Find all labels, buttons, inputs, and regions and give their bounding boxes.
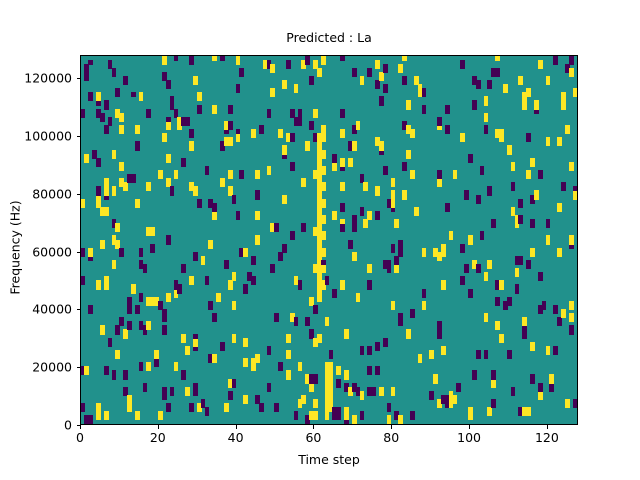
y-tick-mark — [77, 136, 81, 137]
x-tick-label: 80 — [361, 430, 421, 445]
x-tick-mark — [391, 425, 392, 429]
x-tick-mark — [469, 425, 470, 429]
x-tick-label: 40 — [206, 430, 266, 445]
y-tick-mark — [77, 425, 81, 426]
x-tick-mark — [547, 425, 548, 429]
heatmap-axes — [80, 55, 578, 425]
y-tick-mark — [77, 367, 81, 368]
y-tick-label: 100000 — [24, 128, 72, 143]
y-axis-label: Frequency (Hz) — [8, 168, 23, 328]
x-tick-mark — [313, 425, 314, 429]
y-tick-label: 120000 — [24, 71, 72, 86]
x-tick-mark — [80, 425, 81, 429]
y-tick-label: 0 — [64, 418, 72, 433]
x-tick-mark — [236, 425, 237, 429]
x-tick-label: 100 — [439, 430, 499, 445]
y-tick-label: 20000 — [32, 360, 72, 375]
y-tick-label: 60000 — [32, 244, 72, 259]
heatmap-image — [81, 56, 577, 424]
matplotlib-figure: Predicted : La 020406080100120 020000400… — [0, 0, 640, 480]
x-tick-label: 60 — [283, 430, 343, 445]
x-tick-label: 20 — [128, 430, 188, 445]
y-tick-mark — [77, 78, 81, 79]
page-title: Predicted : La — [80, 30, 578, 45]
x-tick-label: 120 — [517, 430, 577, 445]
y-tick-label: 40000 — [32, 302, 72, 317]
y-tick-mark — [77, 309, 81, 310]
x-axis-label: Time step — [80, 452, 578, 467]
x-tick-mark — [158, 425, 159, 429]
y-tick-mark — [77, 252, 81, 253]
x-tick-label: 0 — [50, 430, 110, 445]
y-tick-label: 80000 — [32, 186, 72, 201]
y-tick-mark — [77, 194, 81, 195]
